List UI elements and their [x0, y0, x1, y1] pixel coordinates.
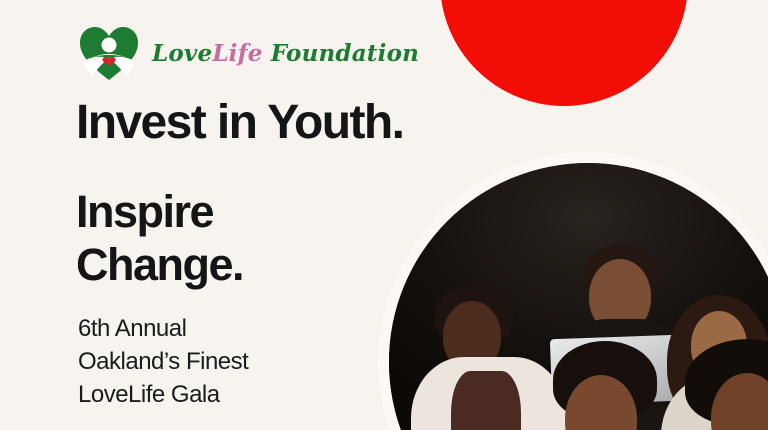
red-decorative-circle — [440, 0, 688, 106]
logo-word-life: Life — [212, 40, 262, 67]
subtitle-line-gala: LoveLife Gala — [78, 378, 248, 411]
subtitle-line-edition: 6th Annual — [78, 312, 248, 345]
subtitle-line-oaklands-finest: Oakland’s Finest — [78, 345, 248, 378]
headline-invest-in-youth: Invest in Youth. — [76, 99, 403, 147]
brand-logo: LoveLife Foundation — [78, 24, 419, 82]
poster-canvas: LoveLife Foundation Invest in Youth. Ins… — [0, 0, 768, 430]
person-front-right — [671, 339, 768, 430]
person-front-center — [531, 341, 681, 430]
headline-line-inspire: Inspire — [76, 185, 243, 238]
event-subtitle: 6th Annual Oakland’s Finest LoveLife Gal… — [78, 312, 248, 411]
headline-line-change: Change. — [76, 238, 243, 291]
headline-inspire-change: Inspire Change. — [76, 185, 243, 291]
logo-word-foundation: Foundation — [263, 40, 419, 67]
group-photo — [389, 163, 768, 430]
heart-with-figure-logo-icon — [78, 24, 140, 82]
logo-wordmark: LoveLife Foundation — [152, 42, 419, 65]
dress — [451, 371, 521, 430]
logo-word-love: Love — [152, 40, 212, 67]
group-photo-circle-frame — [378, 152, 768, 430]
